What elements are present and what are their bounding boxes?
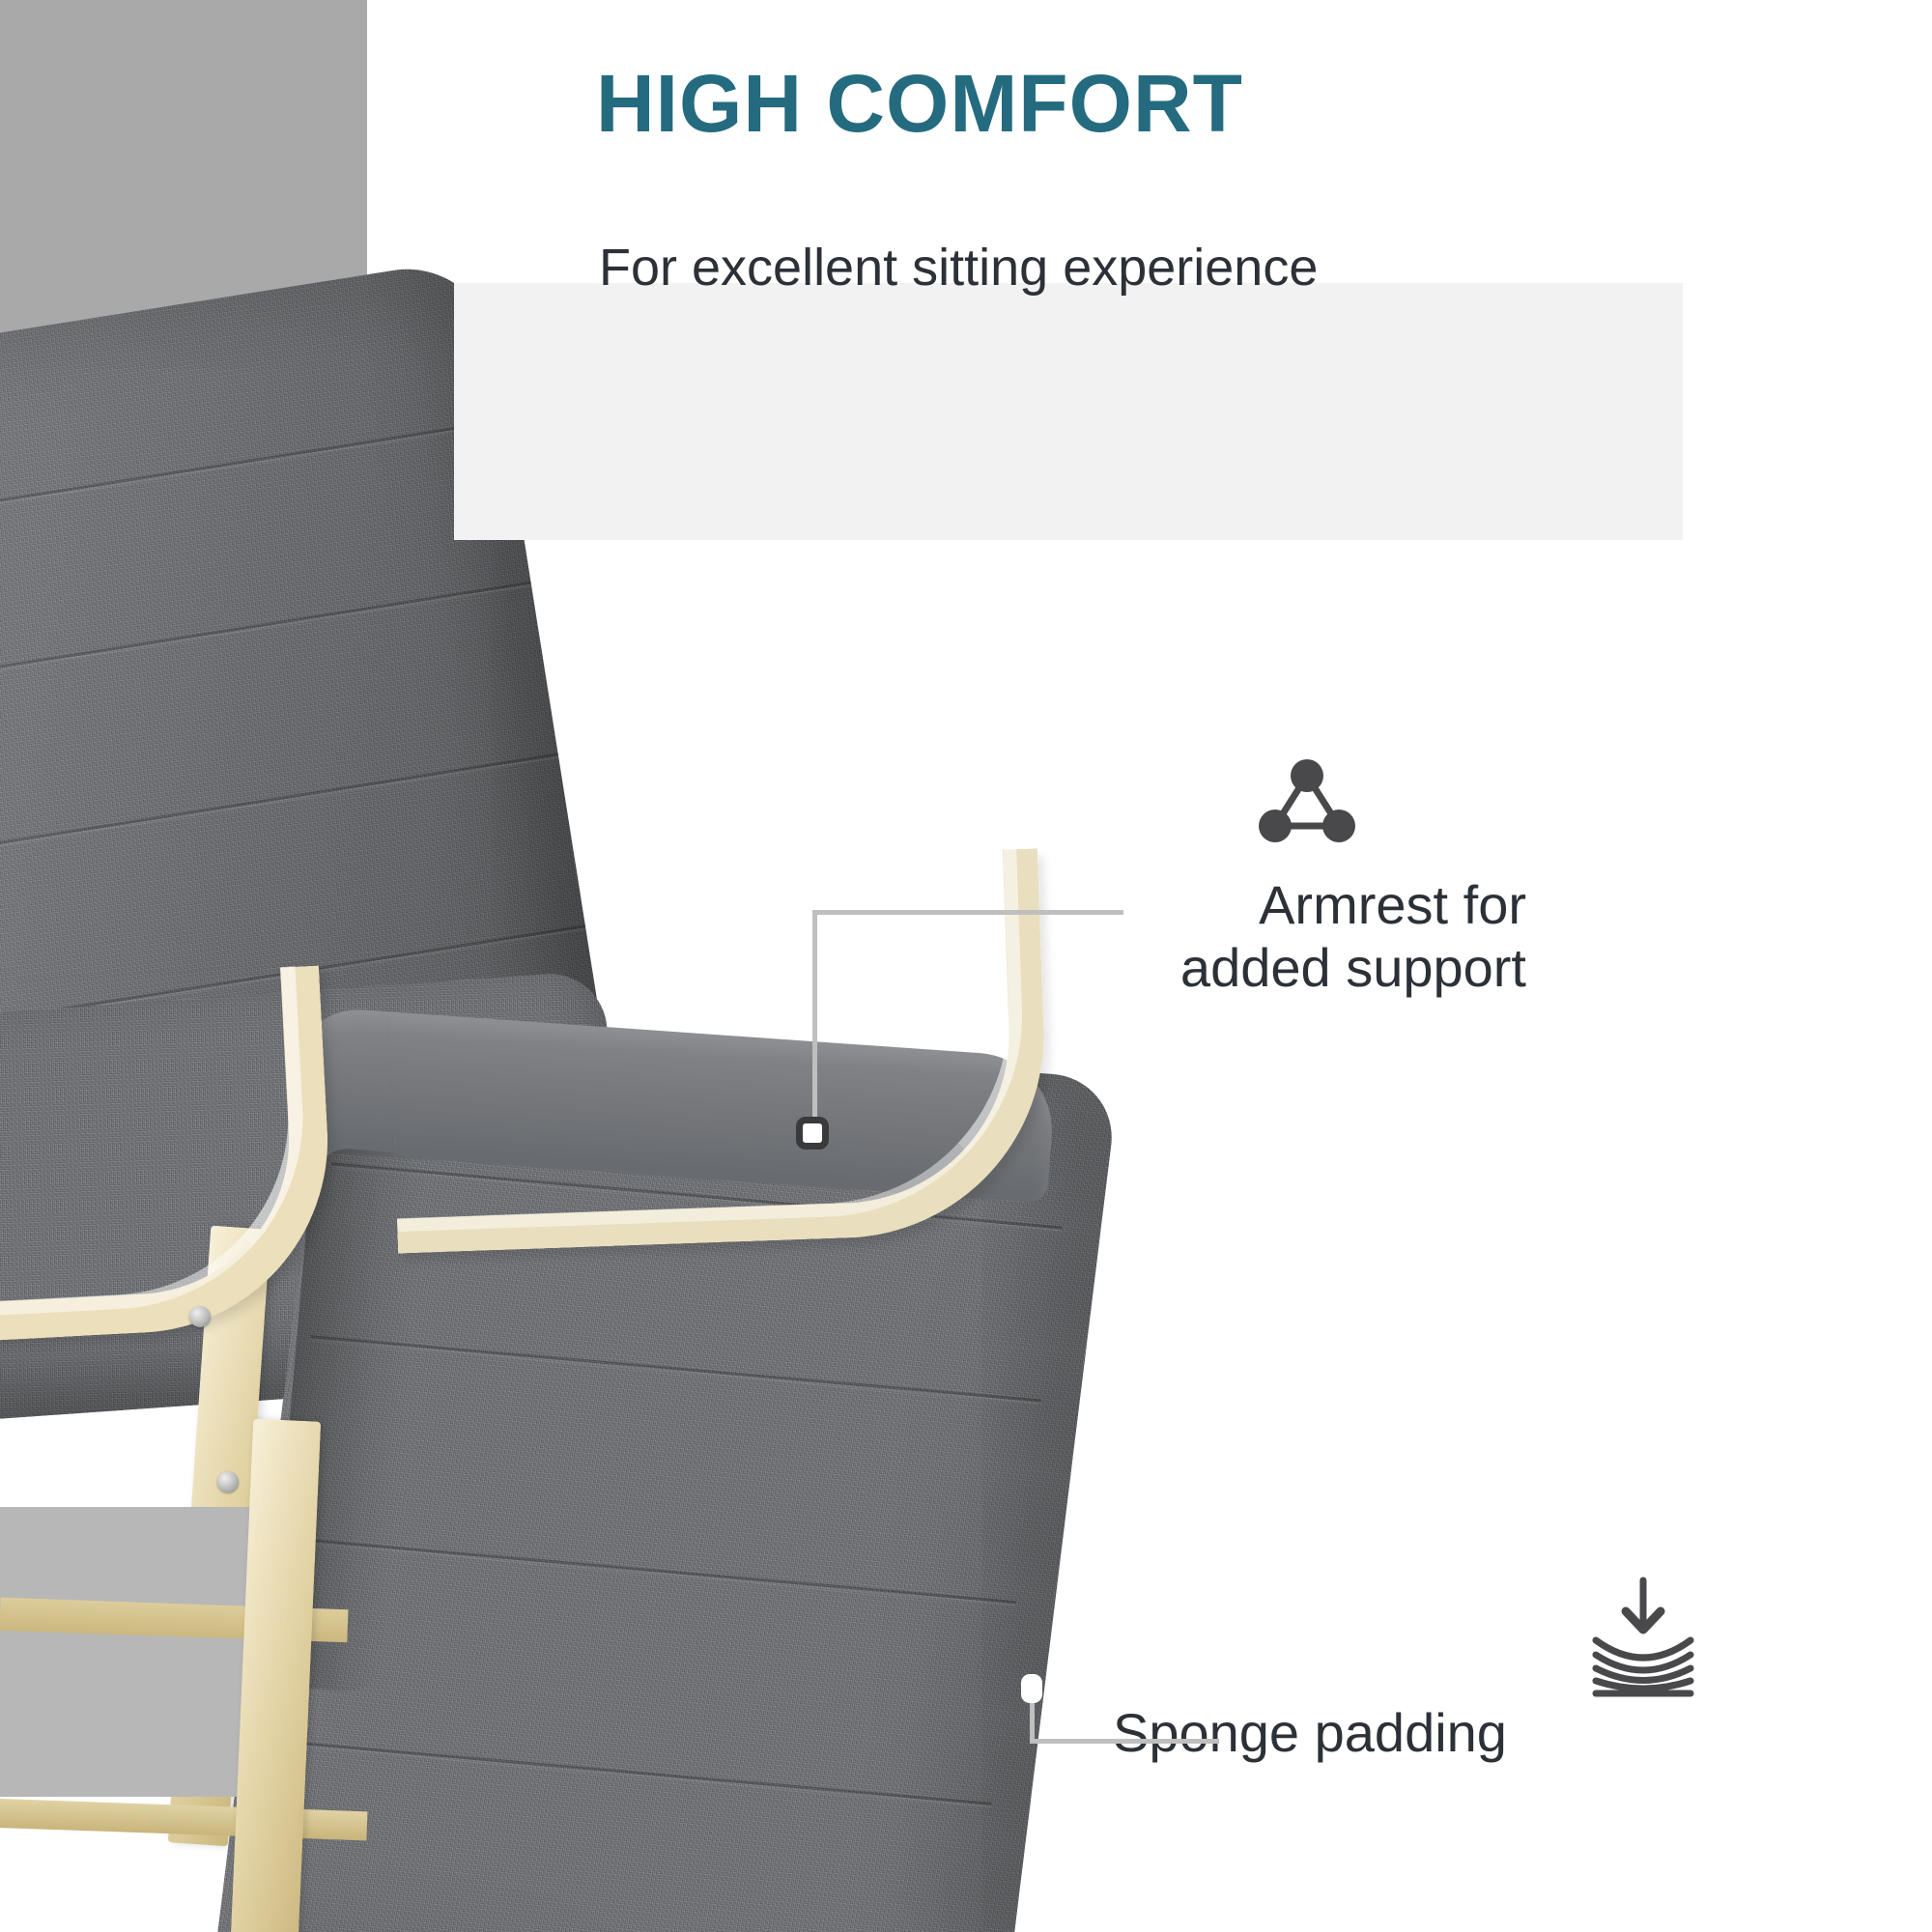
triangle-support-icon: [1254, 758, 1360, 845]
chair-stretcher-upper: [0, 1598, 348, 1643]
callout-padding-marker[interactable]: [1021, 1674, 1042, 1703]
callout-armrest-line-horizontal: [812, 910, 1123, 915]
callout-padding-line-vertical: [1030, 1702, 1035, 1743]
callout-armrest-marker[interactable]: [796, 1117, 829, 1150]
chair-left-post: [168, 1226, 270, 1847]
frame-screw: [217, 1471, 239, 1492]
cushion-compression-icon: [1582, 1575, 1704, 1698]
callout-padding-label: Sponge padding: [1113, 1702, 1932, 1765]
callout-armrest-line1: Armrest for: [734, 874, 1526, 937]
chair-footrest-top: [286, 1006, 1058, 1204]
callout-armrest-line2: added support: [734, 937, 1526, 1000]
corner-gray-block: [0, 0, 367, 340]
floor-shadow-patch: [0, 1507, 259, 1797]
callout-armrest-line-vertical: [812, 910, 817, 1140]
page-subtitle: For excellent sitting experience: [599, 240, 1318, 297]
callout-padding-line-horizontal: [1030, 1739, 1219, 1744]
chair-left-armrest-highlight: [0, 966, 313, 1328]
callout-padding-line1: Sponge padding: [1113, 1702, 1932, 1765]
frame-screw: [189, 1306, 211, 1327]
accent-panel: [454, 283, 1683, 540]
chair-footrest-cushion: [213, 1023, 1120, 1932]
infographic-canvas: HIGH COMFORT For excellent sitting exper…: [0, 0, 1932, 1932]
callout-armrest-label: Armrest for added support: [734, 874, 1526, 1000]
chair-seat-cushion: [0, 970, 632, 1435]
chair-footrest-edge: [267, 1146, 429, 1694]
page-title: HIGH COMFORT: [596, 60, 1243, 148]
chair-stretcher-lower: [0, 1798, 367, 1841]
chair-left-armrest: [0, 966, 337, 1353]
chair-front-leg: [230, 1419, 321, 1932]
